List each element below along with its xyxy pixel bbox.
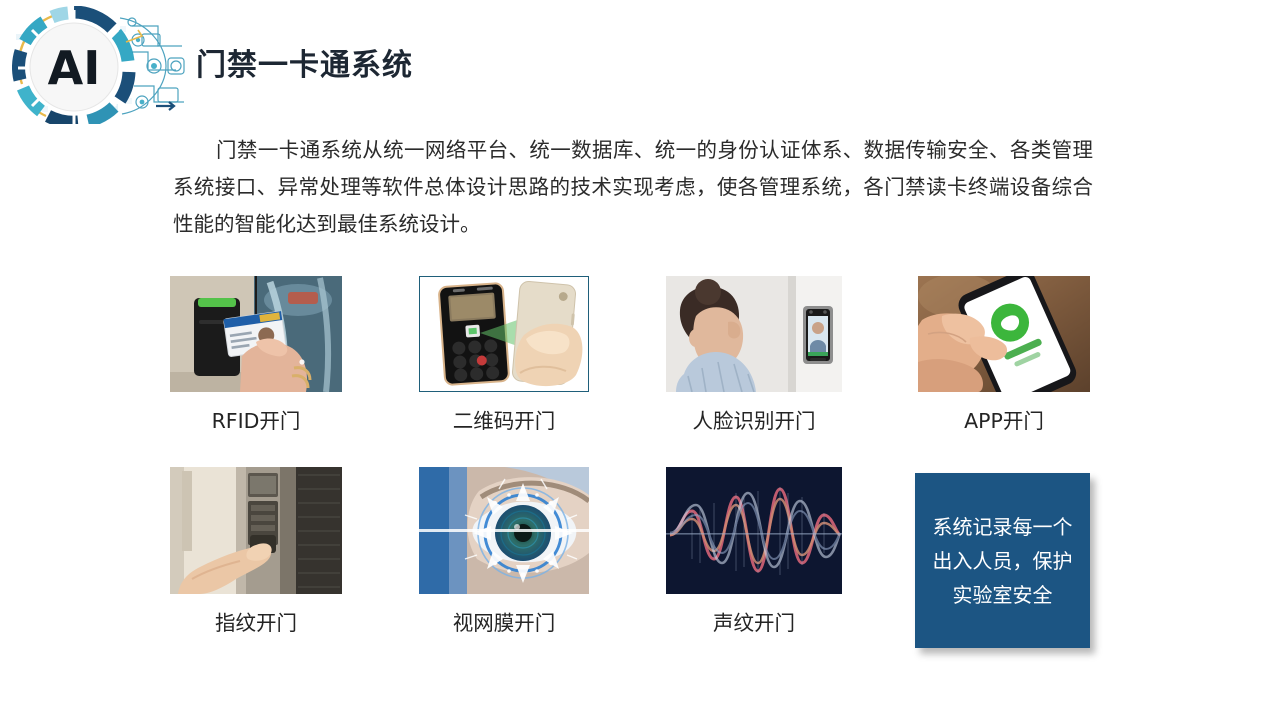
fingerprint-reader-photo [170, 467, 342, 594]
face-recognition-terminal-photo [666, 276, 842, 392]
caption-app: APP开门 [918, 404, 1090, 434]
note-box: 系统记录每一个 出入人员，保护 实验室安全 [915, 473, 1090, 648]
caption-retina: 视网膜开门 [419, 606, 589, 636]
mobile-app-unlock-photo [918, 276, 1090, 392]
grid-item-face[interactable]: 人脸识别开门 [666, 276, 842, 436]
voiceprint-waveform-photo [666, 467, 842, 594]
grid-item-qrcode[interactable]: 二维码开门 [419, 276, 589, 436]
note-text: 系统记录每一个 出入人员，保护 实验室安全 [919, 510, 1087, 612]
note-line-1: 系统记录每一个 [933, 510, 1073, 544]
note-line-2: 出入人员，保护 [933, 544, 1073, 578]
caption-fingerprint: 指纹开门 [170, 606, 342, 636]
access-method-grid: RFID开门 [0, 0, 1272, 711]
note-line-3: 实验室安全 [933, 578, 1073, 612]
slide-canvas: AI [0, 0, 1272, 711]
caption-qrcode: 二维码开门 [419, 404, 589, 434]
retina-iris-scan-photo [419, 467, 589, 594]
caption-rfid: RFID开门 [170, 404, 342, 434]
grid-item-retina[interactable]: 视网膜开门 [419, 467, 589, 642]
grid-item-voiceprint[interactable]: 声纹开门 [666, 467, 842, 642]
grid-item-fingerprint[interactable]: 指纹开门 [170, 467, 342, 642]
grid-item-rfid[interactable]: RFID开门 [170, 276, 342, 436]
rfid-card-reader-photo [170, 276, 342, 392]
grid-item-app[interactable]: APP开门 [918, 276, 1090, 436]
caption-face: 人脸识别开门 [666, 404, 842, 434]
caption-voiceprint: 声纹开门 [666, 606, 842, 636]
qr-code-scanner-phone-photo [419, 276, 589, 392]
